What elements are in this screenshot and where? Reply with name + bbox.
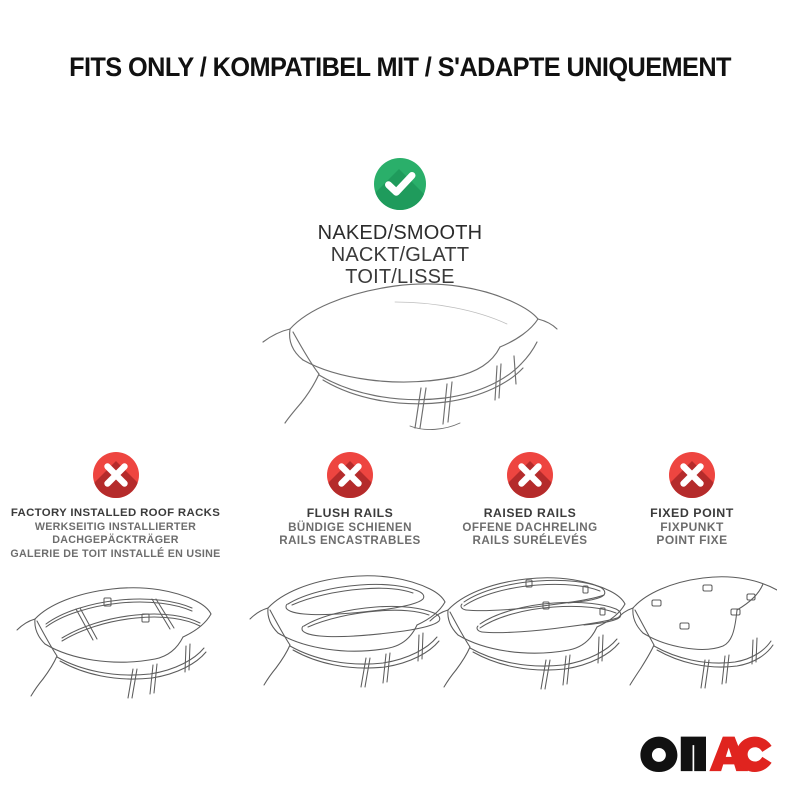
incompatible-labels: FACTORY INSTALLED ROOF RACKS WERKSEITIG … [0,507,231,561]
label-line-1: FIXED POINT [620,507,764,521]
smooth-roof-illustration [245,276,575,436]
factory-roof-rack-illustration [0,567,231,707]
compatibility-infographic: FITS ONLY / KOMPATIBEL MIT / S'ADAPTE UN… [0,0,800,800]
x-circle-icon [93,452,139,498]
label-line-2: FIXPUNKT [620,521,764,535]
incompatible-section: FACTORY INSTALLED ROOF RACKS WERKSEITIG … [0,452,800,702]
x-circle-icon [507,452,553,498]
label-line-3: POINT FIXE [620,534,764,548]
incompatible-item-factory-roof-rack: FACTORY INSTALLED ROOF RACKS WERKSEITIG … [0,452,231,707]
incompatible-labels: RAISED RAILS OFFENE DACHRELING RAILS SUR… [416,507,644,548]
label-line-2: OFFENE DACHRELING [416,521,644,535]
page-title: FITS ONLY / KOMPATIBEL MIT / S'ADAPTE UN… [18,52,782,83]
compatible-label-de: NACKT/GLATT [0,244,800,266]
label-line-1: RAISED RAILS [416,507,644,521]
label-line-3: DACHGEPÄCKTRÄGER [0,534,231,548]
label-line-3: RAILS SURÉLEVÉS [416,534,644,548]
check-circle-icon [374,158,426,210]
compatible-section: NAKED/SMOOTH NACKT/GLATT TOIT/LISSE [0,158,800,288]
label-line-4: GALERIE DE TOIT INSTALLÉ EN USINE [0,548,231,562]
omac-logo [640,735,772,772]
fixed-point-illustration [607,554,777,694]
incompatible-item-fixed-point: FIXED POINT FIXPUNKT POINT FIXE [620,452,764,694]
compatible-label-en: NAKED/SMOOTH [0,222,800,244]
label-line-1: FACTORY INSTALLED ROOF RACKS [0,507,231,521]
x-circle-icon [669,452,715,498]
label-line-2: WERKSEITIG INSTALLIERTER [0,521,231,535]
incompatible-labels: FIXED POINT FIXPUNKT POINT FIXE [620,507,764,548]
x-circle-icon [327,452,373,498]
